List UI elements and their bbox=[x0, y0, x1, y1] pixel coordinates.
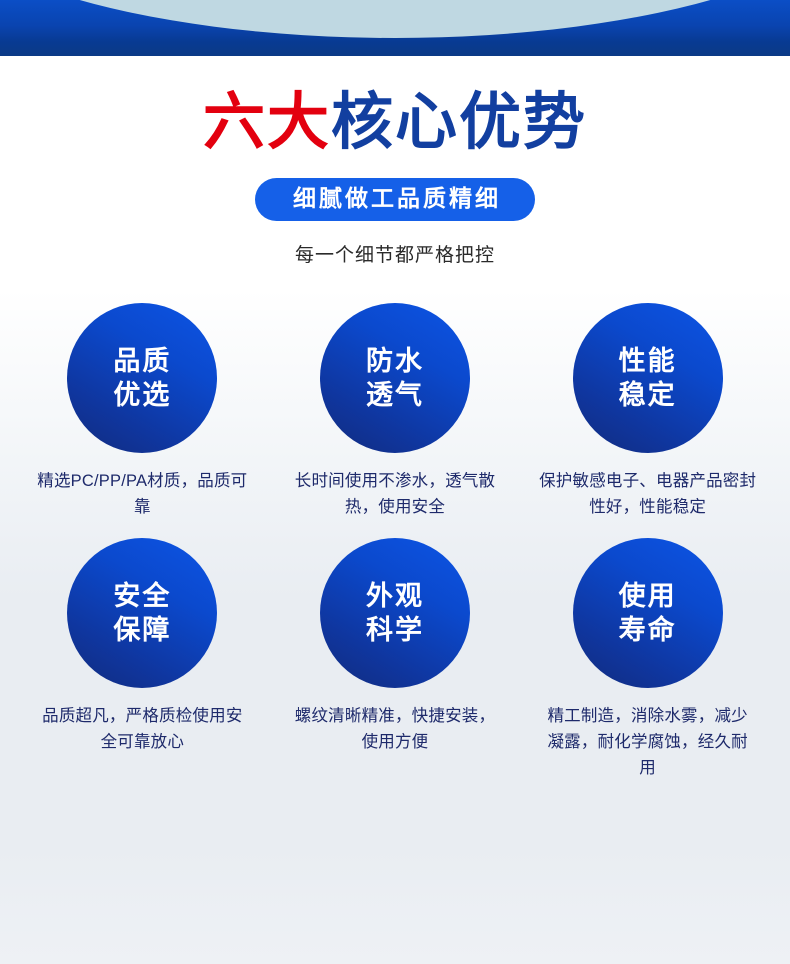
page-subtitle: 每一个细节都严格把控 bbox=[0, 240, 790, 267]
page-title: 六大核心优势 bbox=[0, 92, 790, 154]
subtitle-pill-wrapper: 细腻做工品质精细 bbox=[0, 178, 790, 221]
badge-line-1: 外观 bbox=[366, 579, 424, 614]
badge-line-2: 科学 bbox=[366, 613, 424, 648]
top-banner bbox=[0, 0, 790, 56]
page-title-highlight: 六大 bbox=[203, 88, 331, 157]
feature-caption: 长时间使用不渗水，透气散热，使用安全 bbox=[286, 469, 504, 520]
feature-badge: 防水 透气 bbox=[320, 303, 470, 453]
banner-arc-shape bbox=[0, 0, 790, 38]
feature-caption: 品质超凡，严格质检使用安全可靠放心 bbox=[37, 704, 247, 755]
badge-line-1: 安全 bbox=[113, 579, 171, 614]
feature-caption: 精选PC/PP/PA材质，品质可靠 bbox=[33, 469, 251, 520]
feature-item-performance: 性能 稳定 保护敏感电子、电器产品密封性好，性能稳定 bbox=[521, 303, 774, 520]
badge-line-1: 品质 bbox=[113, 344, 171, 379]
badge-line-1: 使用 bbox=[619, 579, 677, 614]
feature-item-waterproof: 防水 透气 长时间使用不渗水，透气散热，使用安全 bbox=[269, 303, 522, 520]
feature-grid: 品质 优选 精选PC/PP/PA材质，品质可靠 防水 透气 长时间使用不渗水，透… bbox=[0, 303, 790, 781]
badge-line-2: 透气 bbox=[366, 378, 424, 413]
feature-badge: 使用 寿命 bbox=[573, 538, 723, 688]
badge-line-2: 保障 bbox=[113, 613, 171, 648]
badge-line-2: 寿命 bbox=[619, 613, 677, 648]
feature-caption: 精工制造，消除水雾，减少凝露，耐化学腐蚀，经久耐用 bbox=[543, 704, 753, 781]
badge-line-2: 优选 bbox=[113, 378, 171, 413]
feature-badge: 品质 优选 bbox=[67, 303, 217, 453]
feature-item-design: 外观 科学 螺纹清晰精准，快捷安装，使用方便 bbox=[269, 538, 522, 781]
feature-badge: 外观 科学 bbox=[320, 538, 470, 688]
feature-badge: 性能 稳定 bbox=[573, 303, 723, 453]
header-block: 六大核心优势 细腻做工品质精细 每一个细节都严格把控 bbox=[0, 56, 790, 267]
badge-line-1: 性能 bbox=[619, 344, 677, 379]
badge-line-1: 防水 bbox=[366, 344, 424, 379]
feature-badge: 安全 保障 bbox=[67, 538, 217, 688]
subtitle-pill: 细腻做工品质精细 bbox=[255, 178, 535, 221]
feature-item-safety: 安全 保障 品质超凡，严格质检使用安全可靠放心 bbox=[16, 538, 269, 781]
badge-line-2: 稳定 bbox=[619, 378, 677, 413]
page-title-rest: 核心优势 bbox=[331, 88, 587, 157]
feature-caption: 保护敏感电子、电器产品密封性好，性能稳定 bbox=[539, 469, 757, 520]
feature-item-quality: 品质 优选 精选PC/PP/PA材质，品质可靠 bbox=[16, 303, 269, 520]
feature-item-lifespan: 使用 寿命 精工制造，消除水雾，减少凝露，耐化学腐蚀，经久耐用 bbox=[521, 538, 774, 781]
feature-caption: 螺纹清晰精准，快捷安装，使用方便 bbox=[290, 704, 500, 755]
